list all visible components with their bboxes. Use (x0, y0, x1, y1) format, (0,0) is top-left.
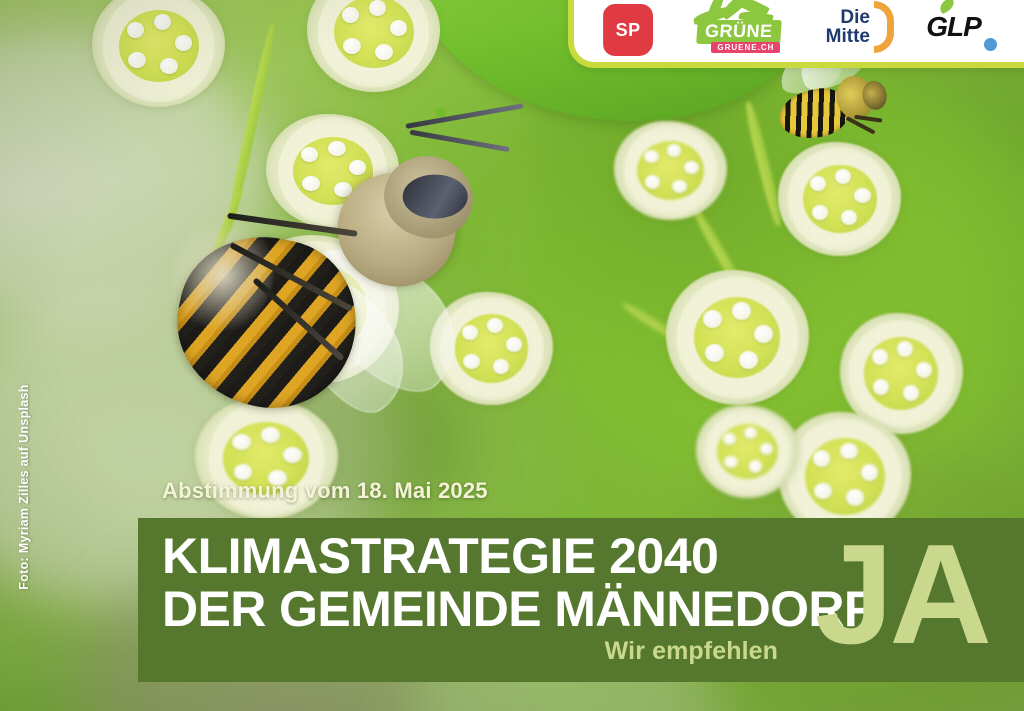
headline-text: KLIMASTRATEGIE 2040 DER GEMEINDE MÄNNEDO… (162, 530, 874, 636)
logo-die-mitte-line1: Die (826, 8, 870, 27)
blossom-anthers (803, 165, 877, 233)
logo-die-mitte-label: Die Mitte (826, 8, 870, 47)
blossom-anthers (694, 297, 780, 378)
currant-blossom (92, 0, 225, 107)
currant-blossom (696, 405, 798, 497)
die-mitte-arc-icon (874, 1, 894, 53)
headline-line-2: DER GEMEINDE MÄNNEDORF (162, 583, 874, 636)
bee-eye (403, 174, 468, 218)
blossom-anthers (717, 424, 778, 479)
vote-date-kicker: Abstimmung vom 18. Mai 2025 (162, 478, 488, 504)
currant-blossom (778, 142, 901, 256)
logo-glp[interactable]: GLP (926, 0, 997, 56)
blossom-anthers (455, 314, 529, 382)
glp-dot-icon (984, 38, 997, 51)
currant-blossom (307, 0, 440, 92)
photo-credit: Foto: Myriam Zilles auf Unsplash (17, 377, 31, 597)
campaign-poster: SP GRÜNE GRUENE.CH Die Mitte GLP Foto: M… (0, 0, 1024, 711)
logo-sp[interactable]: SP (603, 4, 653, 56)
logo-die-mitte-line2: Mitte (826, 27, 870, 46)
currant-blossom (614, 121, 727, 221)
blossom-anthers (805, 438, 885, 515)
logo-die-mitte[interactable]: Die Mitte (826, 0, 894, 56)
blossom-anthers (637, 141, 705, 201)
logo-glp-label: GLP (926, 11, 981, 43)
logo-gruene-label: GRÜNE (697, 20, 782, 44)
headline-line-1: KLIMASTRATEGIE 2040 (162, 530, 874, 583)
logo-gruene-sublabel: GRUENE.CH (711, 42, 780, 53)
currant-blossom (666, 270, 809, 405)
blossom-anthers (864, 337, 938, 410)
party-logo-panel: SP GRÜNE GRUENE.CH Die Mitte GLP (568, 0, 1024, 68)
blossom-anthers (334, 0, 414, 68)
headline-banner: KLIMASTRATEGIE 2040 DER GEMEINDE MÄNNEDO… (138, 518, 1024, 682)
logo-gruene[interactable]: GRÜNE GRUENE.CH (685, 0, 793, 56)
recommendation-label: Wir empfehlen (605, 637, 778, 666)
logo-sp-label: SP (616, 20, 641, 41)
vote-recommendation-ja: JA (814, 524, 988, 666)
blossom-anthers (119, 10, 199, 83)
